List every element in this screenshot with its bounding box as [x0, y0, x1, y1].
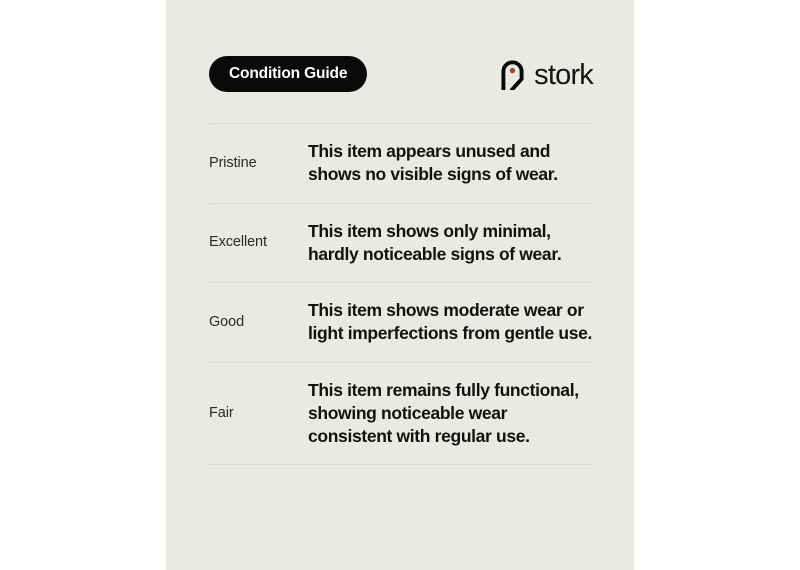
brand-name: stork [534, 61, 593, 90]
condition-label: Fair [209, 404, 308, 423]
condition-label: Excellent [209, 233, 308, 252]
condition-guide-card: Condition Guide stork Pristine This item… [166, 0, 634, 570]
table-row: Good This item shows moderate wear or li… [209, 283, 593, 362]
condition-label: Good [209, 313, 308, 332]
condition-guide-badge-label: Condition Guide [229, 66, 347, 82]
table-row: Pristine This item appears unused and sh… [209, 124, 593, 203]
brand-lockup: stork [500, 56, 593, 92]
condition-description: This item appears unused and shows no vi… [308, 140, 593, 187]
card-header: Condition Guide stork [209, 56, 593, 92]
page-root: Condition Guide stork Pristine This item… [0, 0, 800, 570]
condition-description: This item shows moderate wear or light i… [308, 299, 593, 346]
condition-guide-table: Pristine This item appears unused and sh… [209, 123, 593, 465]
stork-arch-logo-icon [500, 59, 525, 90]
condition-description: This item shows only minimal, hardly not… [308, 220, 593, 267]
condition-guide-badge: Condition Guide [209, 56, 367, 92]
condition-description: This item remains fully functional, show… [308, 379, 593, 449]
condition-label: Pristine [209, 154, 308, 173]
row-divider [209, 464, 593, 465]
table-row: Excellent This item shows only minimal, … [209, 204, 593, 283]
table-row: Fair This item remains fully functional,… [209, 363, 593, 465]
